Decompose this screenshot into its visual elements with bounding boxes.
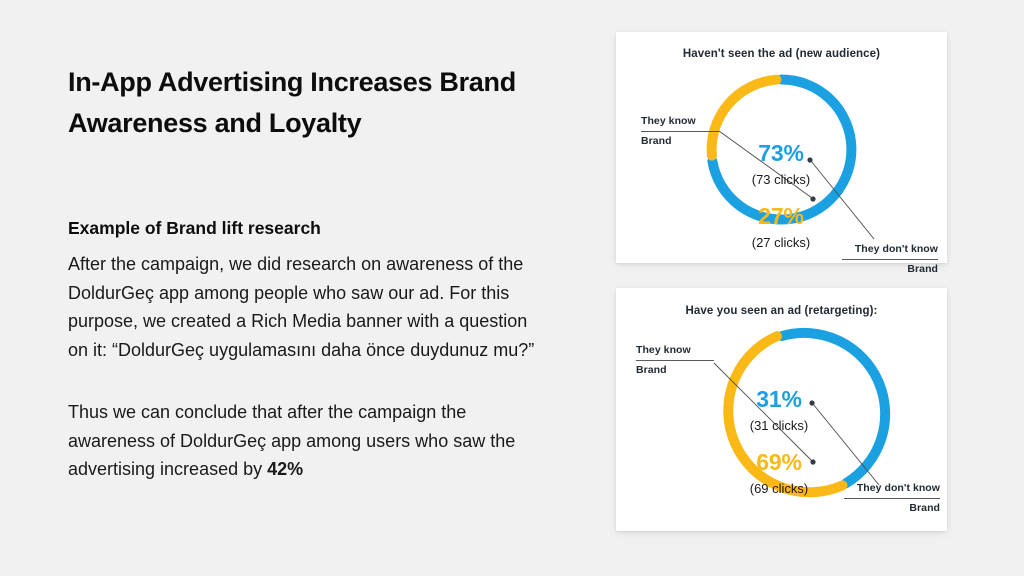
spacer: [704, 435, 854, 449]
callout-rule: [842, 259, 938, 260]
donut-chart-new-audience: 73% (73 clicks) 27% (27 clicks) They kno…: [616, 32, 947, 263]
clicks-they-know: (69 clicks): [704, 476, 854, 498]
callout-they-know-line2: Brand: [636, 363, 714, 378]
percent-they-know: 27%: [706, 203, 856, 230]
callout-they-dont-know: They don't know Brand: [844, 481, 940, 516]
callout-rule: [636, 360, 714, 361]
percent-they-dont-know: 31%: [704, 386, 854, 413]
chart-card-new-audience: Haven't seen the ad (new audience) 73% (…: [616, 32, 947, 263]
callout-they-dont-know-line1: They don't know: [842, 242, 938, 257]
callout-they-know-line2: Brand: [641, 134, 719, 149]
clicks-they-dont-know: (73 clicks): [706, 167, 856, 189]
body-paragraph-conclusion: Thus we can conclude that after the camp…: [68, 364, 538, 484]
clicks-they-know: (27 clicks): [706, 230, 856, 252]
callout-they-dont-know-line2: Brand: [842, 262, 938, 277]
callout-they-know-line1: They know: [636, 343, 714, 358]
donut-center-values: 31% (31 clicks) 69% (69 clicks): [704, 386, 854, 498]
callout-they-know: They know Brand: [636, 343, 714, 378]
body-paragraph-research: After the campaign, we did research on a…: [68, 240, 538, 364]
callout-they-dont-know-line2: Brand: [844, 501, 940, 516]
callout-they-know-line1: They know: [641, 114, 719, 129]
donut-chart-retargeting: 31% (31 clicks) 69% (69 clicks) They kno…: [616, 288, 947, 531]
callout-they-know: They know Brand: [641, 114, 719, 149]
text-column: In-App Advertising Increases Brand Aware…: [68, 62, 550, 484]
percent-they-know: 69%: [704, 449, 854, 476]
percent-they-dont-know: 73%: [706, 140, 856, 167]
callout-rule: [844, 498, 940, 499]
callout-they-dont-know: They don't know Brand: [842, 242, 938, 277]
page-title: In-App Advertising Increases Brand Aware…: [68, 62, 538, 144]
callout-rule: [641, 131, 719, 132]
conclusion-highlight: 42%: [267, 459, 303, 479]
section-subheading: Example of Brand lift research: [68, 144, 550, 240]
donut-center-values: 73% (73 clicks) 27% (27 clicks): [706, 140, 856, 252]
callout-they-dont-know-line1: They don't know: [844, 481, 940, 496]
clicks-they-dont-know: (31 clicks): [704, 413, 854, 435]
chart-card-retargeting: Have you seen an ad (retargeting): 31% (…: [616, 288, 947, 531]
spacer: [706, 189, 856, 203]
